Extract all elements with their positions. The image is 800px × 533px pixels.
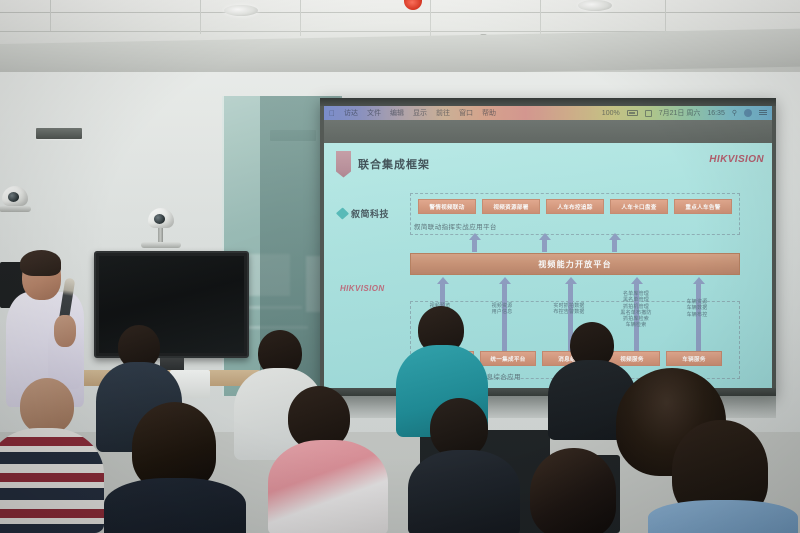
capability-label-2: 视频资源用户信息	[478, 303, 526, 316]
flow-arrow-up	[472, 239, 477, 252]
capability-label-5: 车辆资源车辆数据车辆布控	[672, 299, 722, 318]
control-center-icon[interactable]	[744, 109, 752, 117]
screen-top-bezel	[320, 98, 776, 106]
flow-arrow-up	[502, 283, 507, 351]
capability-label-3: 实时抓拍数据布控告警数据	[542, 303, 596, 316]
platform-box-5[interactable]: 车辆服务	[666, 351, 722, 366]
ceiling-light	[578, 0, 612, 11]
vendor-tag: 叙简科技	[338, 207, 389, 220]
app-box-1[interactable]: 警情视频联动	[418, 199, 476, 214]
app-box-4[interactable]: 人车卡口盘查	[610, 199, 668, 214]
menubar-date: 7月21日 周六	[659, 108, 701, 118]
capability-label-4: 名单库管理黑名单管理抓拍机管理黑名单布撤防抓拍库检索车辆检索	[608, 291, 664, 329]
top-group-caption: 叙简联动指挥实战应用平台	[414, 221, 497, 231]
ribbon-icon	[336, 151, 351, 178]
battery-percent-label: 100%	[602, 110, 620, 117]
search-icon[interactable]: ⚲	[732, 109, 737, 117]
wall-vent	[36, 128, 82, 139]
presenter-hand	[54, 315, 76, 347]
vendor-name: 叙简科技	[351, 207, 389, 220]
menu-item-edit[interactable]: 编辑	[390, 108, 404, 118]
fire-alarm-dome	[404, 0, 422, 10]
platform-box-2[interactable]: 统一集成平台	[480, 351, 536, 366]
platform-bar[interactable]: 视频能力开放平台	[410, 253, 740, 275]
menu-item-window[interactable]: 窗口	[459, 108, 473, 118]
battery-icon[interactable]	[627, 110, 638, 116]
menu-item-go[interactable]: 前往	[436, 108, 450, 118]
presenter-hair	[20, 250, 61, 276]
flow-arrow-up	[612, 239, 617, 252]
conference-room-scene: 指挥  访达 文件 编辑 显示 前往	[0, 0, 800, 533]
diamond-icon	[336, 207, 349, 219]
projection-screen:  访达 文件 编辑 显示 前往 窗口 帮助 100% 7月21日 周六 16:…	[320, 98, 776, 396]
hikvision-logo-top: HIKVISION	[709, 154, 764, 165]
ptz-camera-on-display	[148, 208, 181, 248]
hikvision-logo-mid: HIKVISION	[340, 284, 385, 293]
flow-arrow-up	[542, 239, 547, 252]
menu-item-finder[interactable]: 访达	[344, 108, 358, 118]
menubar-time: 16:35	[707, 110, 725, 117]
menu-item-file[interactable]: 文件	[367, 108, 381, 118]
app-box-2[interactable]: 视频资源部署	[482, 199, 540, 214]
os-menubar[interactable]:  访达 文件 编辑 显示 前往 窗口 帮助 100% 7月21日 周六 16:…	[324, 106, 772, 120]
presentation-slide: 联合集成框架 HIKVISION 叙简科技 警情视频联动 视频资源部署 人车布控…	[324, 143, 772, 388]
ceiling-light	[224, 5, 258, 16]
menu-item-view[interactable]: 显示	[413, 108, 427, 118]
ptz-camera-wall-mounted	[2, 186, 31, 212]
screen-mirroring-icon[interactable]	[645, 110, 652, 117]
screen-letterbox	[324, 120, 772, 143]
slide-header: 联合集成框架	[336, 149, 762, 179]
app-box-5[interactable]: 重点人车告警	[674, 199, 732, 214]
app-box-3[interactable]: 人车布控追踪	[546, 199, 604, 214]
menu-item-help[interactable]: 帮助	[482, 108, 496, 118]
apple-menu-icon[interactable]: 	[329, 109, 335, 118]
wall-television	[94, 251, 249, 358]
hamburger-icon[interactable]	[759, 110, 767, 116]
slide-title: 联合集成框架	[358, 156, 430, 172]
